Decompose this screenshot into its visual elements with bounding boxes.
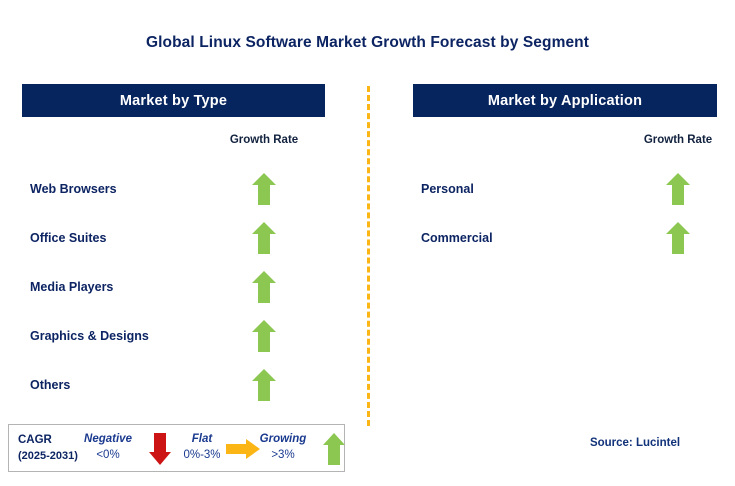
table-row: Personal [413,164,717,213]
table-row: Office Suites [22,213,325,262]
legend-cagr-block: CAGR (2025-2031) [18,432,78,464]
panel-market-by-type: Market by Type Growth Rate Web Browsers … [22,84,325,117]
up-arrow-icon [210,319,318,353]
table-row: Media Players [22,262,325,311]
up-arrow-icon [210,368,318,402]
row-label-graphics-and-designs: Graphics & Designs [22,329,149,343]
table-row: Graphics & Designs [22,311,325,360]
legend-item-growing: Growing >3% [244,431,322,463]
rows-market-by-type: Web Browsers Office Suites Media Players [22,164,325,409]
up-arrow-icon [210,221,318,255]
legend-item-flat: Flat 0%-3% [172,431,232,463]
legend-item-growing-value: >3% [244,447,322,463]
legend-item-growing-name: Growing [244,431,322,447]
legend-item-negative-name: Negative [72,431,144,447]
legend-box: CAGR (2025-2031) Negative <0% Flat 0%-3% [8,424,345,472]
up-arrow-icon [624,221,732,255]
legend-item-flat-name: Flat [172,431,232,447]
infographic-canvas: Global Linux Software Market Growth Fore… [0,0,735,486]
table-row: Others [22,360,325,409]
legend-item-negative-value: <0% [72,447,144,463]
source-label: Source: Lucintel [545,437,725,449]
row-label-commercial: Commercial [413,231,493,245]
growth-rate-column-label-left: Growth Rate [210,134,318,146]
growth-rate-column-label-right: Growth Rate [624,134,732,146]
legend-item-flat-value: 0%-3% [172,447,232,463]
legend-cagr-period: (2025-2031) [18,448,78,464]
legend-item-negative: Negative <0% [72,431,144,463]
table-row: Web Browsers [22,164,325,213]
row-label-web-browsers: Web Browsers [22,182,117,196]
legend-cagr-label: CAGR [18,432,78,448]
page-title: Global Linux Software Market Growth Fore… [0,34,735,52]
legend-content: CAGR (2025-2031) Negative <0% Flat 0%-3% [9,425,344,471]
row-label-personal: Personal [413,182,474,196]
down-arrow-icon [145,430,175,468]
row-label-office-suites: Office Suites [22,231,106,245]
row-label-media-players: Media Players [22,280,113,294]
rows-market-by-application: Personal Commercial [413,164,717,262]
up-arrow-icon [210,172,318,206]
panel-market-by-application: Market by Application Growth Rate Person… [413,84,717,117]
row-label-others: Others [22,378,70,392]
panel-header-market-by-type: Market by Type [22,84,325,117]
panel-header-market-by-application: Market by Application [413,84,717,117]
up-arrow-icon [624,172,732,206]
up-arrow-icon [210,270,318,304]
vertical-dashed-divider [367,86,370,426]
table-row: Commercial [413,213,717,262]
up-arrow-icon [319,430,349,468]
